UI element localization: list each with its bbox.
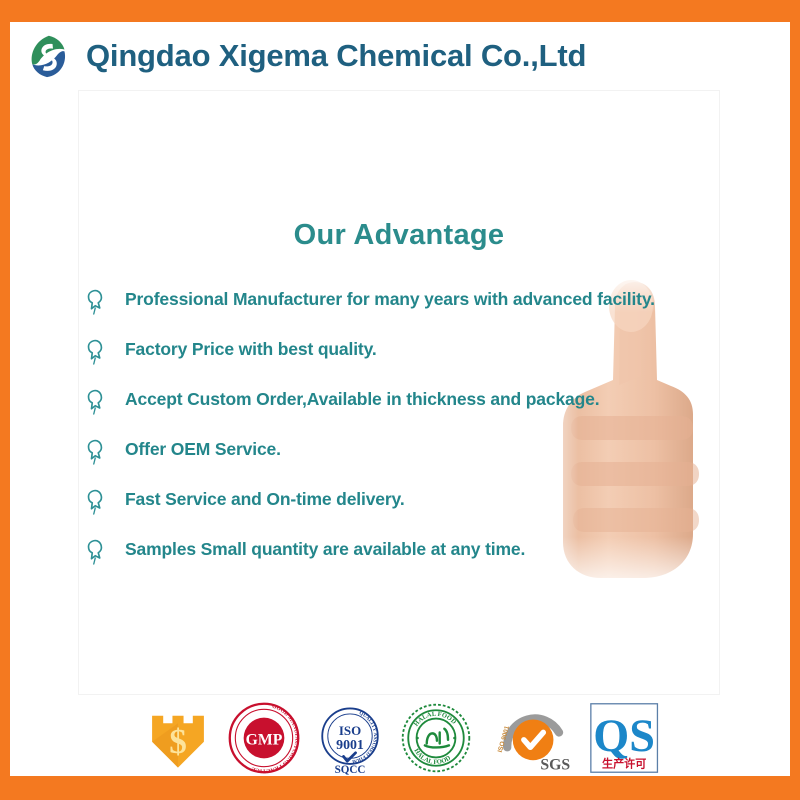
sgs-label: SGS <box>540 756 570 773</box>
list-item-label: Samples Small quantity are available at … <box>125 537 525 561</box>
push-pin-icon <box>87 389 105 415</box>
company-header: Qingdao Xigema Chemical Co.,Ltd <box>10 22 790 90</box>
push-pin-icon <box>87 289 105 315</box>
iso-number: 9001 <box>336 738 364 753</box>
push-pin-icon <box>87 439 105 465</box>
list-item-label: Factory Price with best quality. <box>125 337 377 361</box>
qs-letters: QS <box>593 711 655 762</box>
promotional-banner: Qingdao Xigema Chemical Co.,Ltd <box>0 0 800 800</box>
list-item-label: Fast Service and On-time delivery. <box>125 487 405 511</box>
iso-9001-sqcc-badge-icon: QUALITY ASSURED FIRM ISO 9001 SQCC <box>313 701 387 775</box>
dollar-symbol: $ <box>169 722 187 761</box>
list-item: Fast Service and On-time delivery. <box>87 487 720 537</box>
list-item: Factory Price with best quality. <box>87 337 720 387</box>
push-pin-icon <box>87 489 105 515</box>
list-item: Samples Small quantity are available at … <box>87 537 720 587</box>
dollar-shield-badge-icon: $ <box>141 701 215 775</box>
advantage-heading: Our Advantage <box>79 219 719 252</box>
qs-production-license-badge-icon: QS 生产许可 <box>589 701 659 775</box>
list-item: Offer OEM Service. <box>87 437 720 487</box>
list-item-label: Accept Custom Order,Available in thickne… <box>125 387 599 411</box>
iso-label: ISO <box>338 723 360 738</box>
list-item-label: Professional Manufacturer for many years… <box>125 287 655 311</box>
push-pin-icon <box>87 339 105 365</box>
list-item-label: Offer OEM Service. <box>125 437 281 461</box>
advantage-panel: Our Advantage Professional Manufacturer … <box>78 90 720 695</box>
list-item: Accept Custom Order,Available in thickne… <box>87 387 720 437</box>
company-logo-icon <box>24 33 70 79</box>
gmp-badge-icon: GOOD MANUFACTURING PRACTICE GMP <box>227 701 301 775</box>
advantage-bullet-list: Professional Manufacturer for many years… <box>87 287 720 587</box>
list-item: Professional Manufacturer for many years… <box>87 287 720 337</box>
push-pin-icon <box>87 539 105 565</box>
company-name: Qingdao Xigema Chemical Co.,Ltd <box>86 38 586 74</box>
gmp-label: GMP <box>245 731 282 748</box>
sgs-badge-icon: ISO 9001 SGS <box>485 701 578 775</box>
certification-badge-strip: $ GOOD MANUFACTURING PRACTICE GMP QUALIT… <box>10 700 790 776</box>
sqcc-label: SQCC <box>334 764 365 775</box>
qs-caption: 生产许可 <box>602 757 646 771</box>
halal-food-badge-icon: HALAL FOOD HALAL FOOD <box>399 701 473 775</box>
